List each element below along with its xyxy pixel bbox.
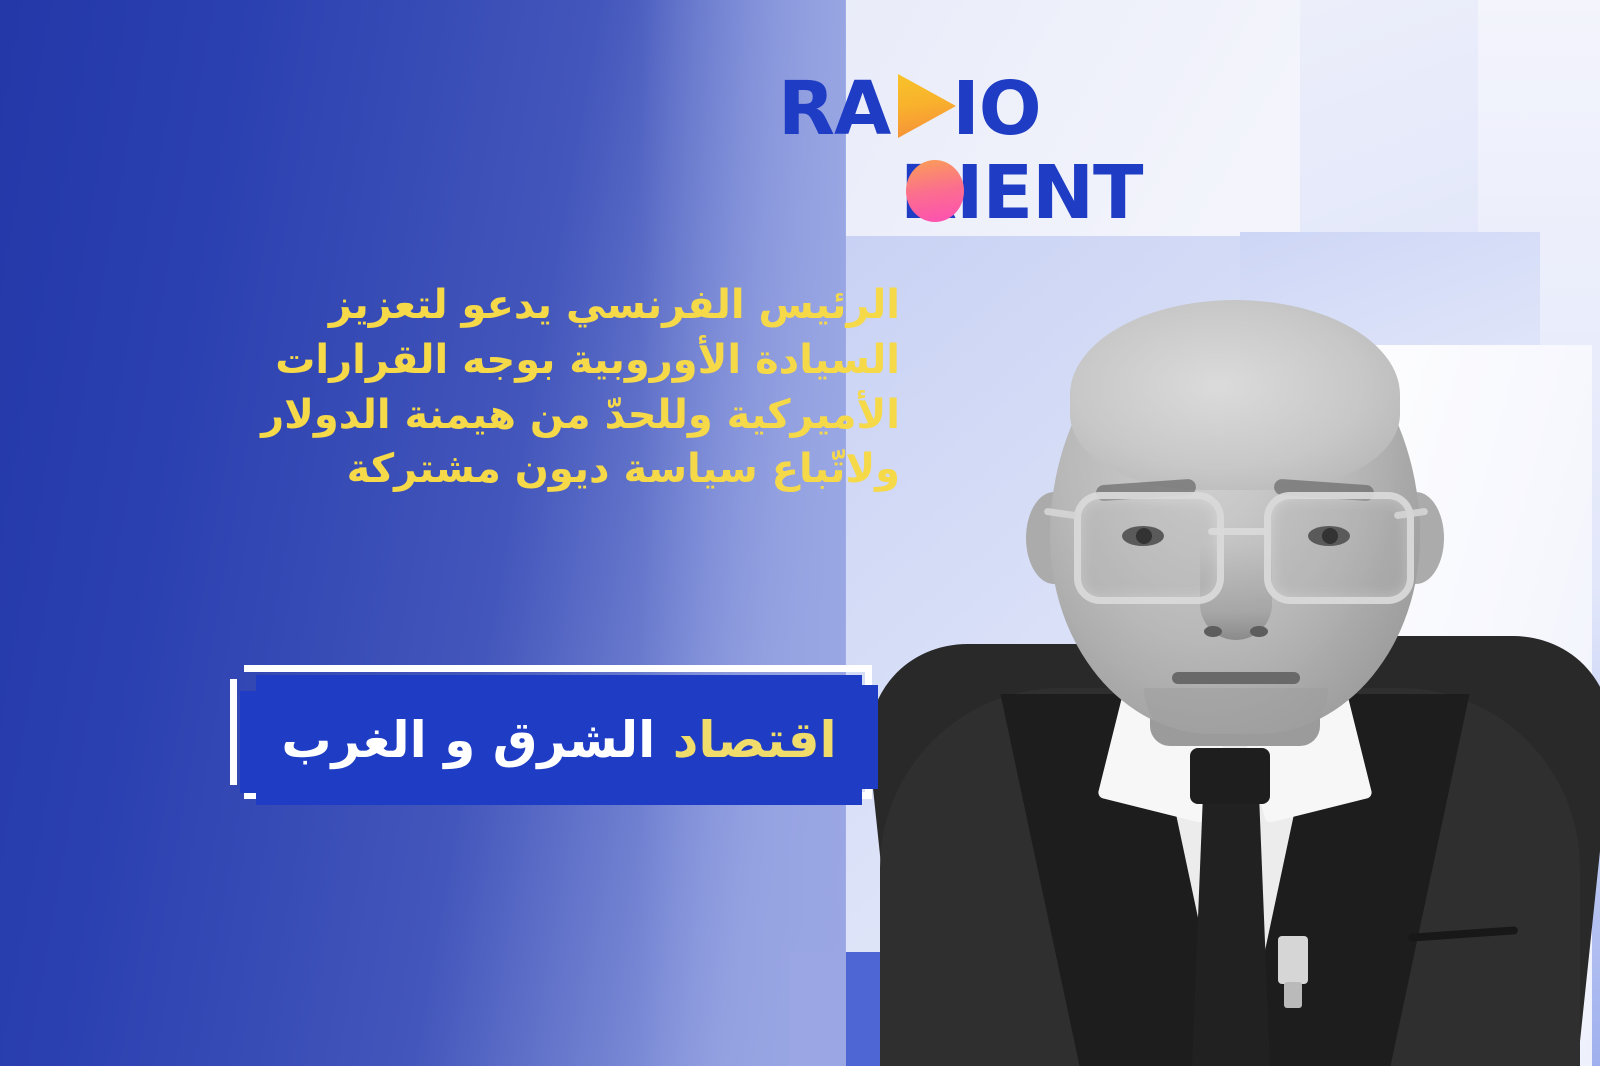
necktie-knot (1190, 748, 1270, 804)
eyeglasses-bridge (1208, 528, 1266, 535)
show-badge-body: اقتصاد الشرق و الغرب (240, 675, 878, 805)
guest-portrait (860, 296, 1600, 1066)
eyeglasses-lens-left (1074, 492, 1224, 604)
play-triangle-icon (898, 74, 956, 138)
background-panel-upper-right (1300, 0, 1500, 232)
show-badge-rest: الشرق و الغرب (281, 711, 672, 769)
necktie (1192, 796, 1270, 1066)
bald-crown (1070, 300, 1400, 490)
mouth (1172, 672, 1300, 684)
lapel-microphone-icon (1278, 936, 1308, 984)
lapel-microphone-clip (1284, 982, 1302, 1008)
radio-orient-logo[interactable]: RAIO RIENT (778, 72, 1248, 232)
logo-line-2: RIENT (778, 156, 1248, 234)
news-card: RAIO RIENT الرئيس الفرنسي يدعو لتعزيز ال… (0, 0, 1600, 1066)
gradient-circle-icon (906, 160, 964, 222)
logo-text-io: IO (952, 66, 1040, 152)
chin (1144, 688, 1328, 746)
background-accent-block-light (790, 952, 846, 1066)
show-badge-keyword: اقتصاد (673, 711, 837, 769)
show-badge-label: اقتصاد الشرق و الغرب (281, 715, 836, 765)
page-title: الرئيس الفرنسي يدعو لتعزيز السيادة الأور… (180, 278, 900, 497)
nostril-left (1204, 626, 1222, 637)
eyeglasses-lens-right (1264, 492, 1414, 604)
show-badge[interactable]: اقتصاد الشرق و الغرب (230, 665, 878, 805)
nostril-right (1250, 626, 1268, 637)
logo-line-1: RAIO (778, 72, 1248, 150)
logo-text-ra: RA (778, 66, 890, 152)
